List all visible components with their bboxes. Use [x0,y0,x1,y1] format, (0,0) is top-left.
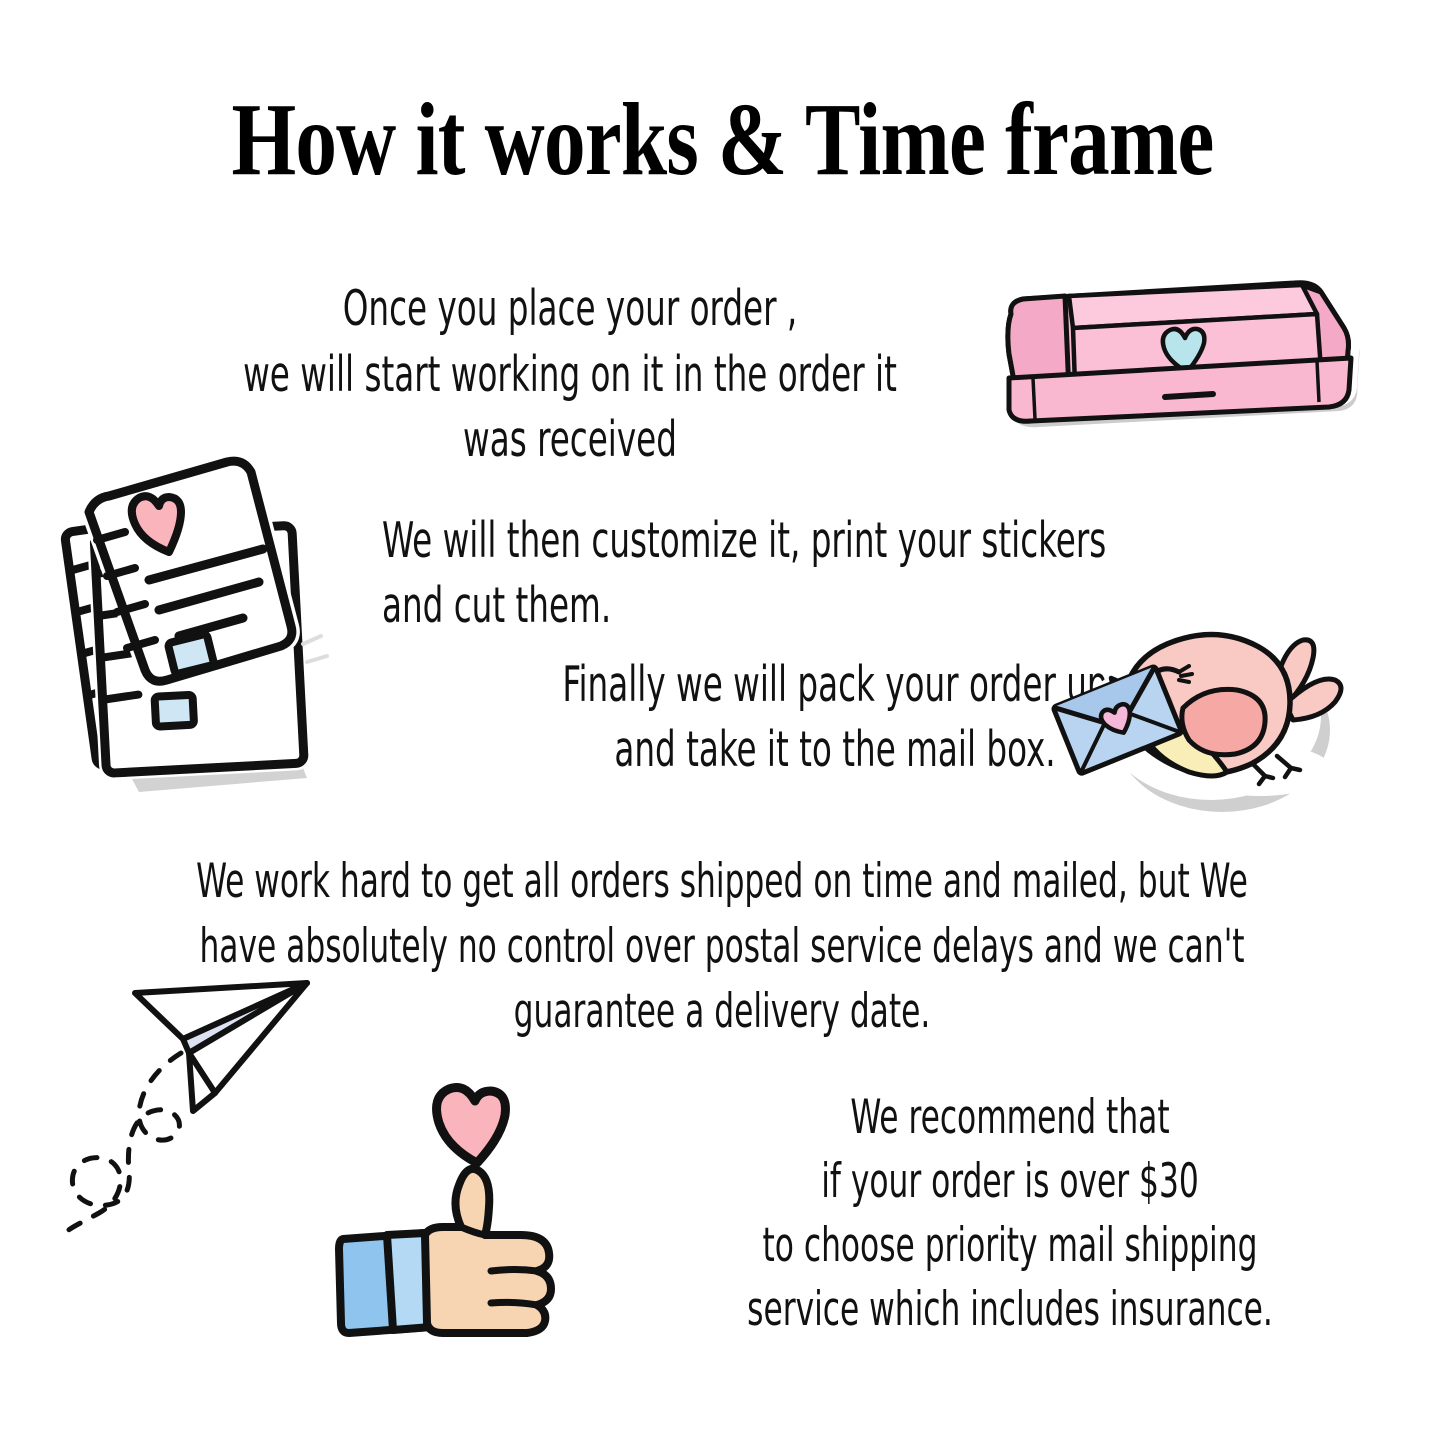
bird-envelope-icon [1055,612,1355,832]
step-1-text: Once you place your order , we will star… [167,276,974,473]
poster-canvas: How it works & Time frame Once you place… [0,0,1445,1445]
thumbs-up-icon [325,1075,595,1345]
shipping-recommendation-text: We recommend that if your order is over … [603,1086,1417,1342]
cutting-machine-icon [965,258,1375,448]
paper-airplane-icon [55,965,355,1240]
paper-stack-icon [55,448,375,798]
page-title: How it works & Time frame [145,88,1301,192]
